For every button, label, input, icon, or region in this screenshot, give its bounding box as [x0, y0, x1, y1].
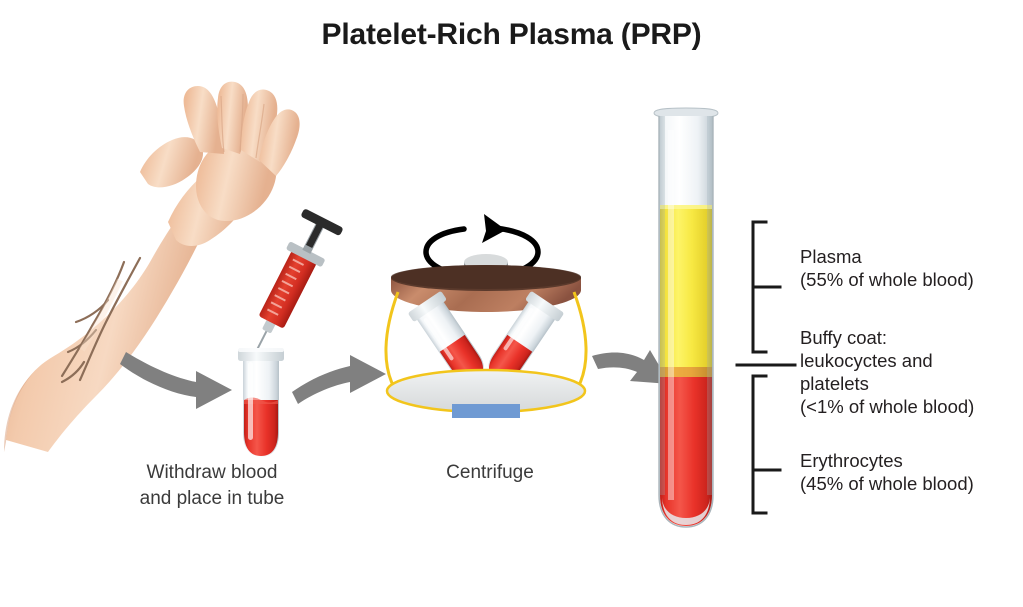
- plasma-meniscus: [660, 205, 712, 209]
- result-tube-right-edge: [707, 116, 713, 495]
- collection-tube-highlight: [248, 362, 253, 440]
- label-erythrocytes: Erythrocytes (45% of whole blood): [800, 449, 974, 495]
- label-buffy-coat: Buffy coat: leukocyctes and platelets (<…: [800, 326, 974, 418]
- thumb: [140, 137, 203, 187]
- diagram-artwork: [0, 0, 1023, 607]
- arrow-arm-to-tube: [120, 352, 232, 409]
- collection-tube-cap-highlight: [238, 348, 284, 352]
- bracket-erythrocytes: [753, 376, 766, 513]
- caption-centrifuge: Centrifuge: [390, 460, 590, 486]
- layer-buffy-coat: [660, 366, 712, 377]
- forearm: [6, 214, 206, 452]
- arrow-tube-to-centrifuge: [292, 355, 386, 404]
- label-plasma: Plasma (55% of whole blood): [800, 245, 974, 291]
- bowl-outline-left: [386, 292, 398, 394]
- result-tube-left-edge: [659, 116, 665, 495]
- collection-tube: [238, 348, 284, 457]
- rotor-disk-surface: [391, 265, 581, 289]
- result-tube-highlight: [668, 130, 674, 500]
- centrifuge: [386, 214, 586, 418]
- layer-erythrocytes: [660, 376, 712, 526]
- annotation-brackets: [737, 222, 795, 513]
- bowl-outline-right: [574, 292, 586, 394]
- figure-canvas: Platelet-Rich Plasma (PRP): [0, 0, 1023, 607]
- spin-arrow-head: [482, 214, 506, 243]
- result-tube: [654, 108, 718, 527]
- centrifuge-foot: [452, 404, 520, 418]
- layer-plasma: [660, 205, 712, 367]
- syringe-barrel-blood: [258, 250, 317, 329]
- syringe: [233, 208, 344, 369]
- caption-withdraw-blood: Withdraw blood and place in tube: [62, 460, 362, 512]
